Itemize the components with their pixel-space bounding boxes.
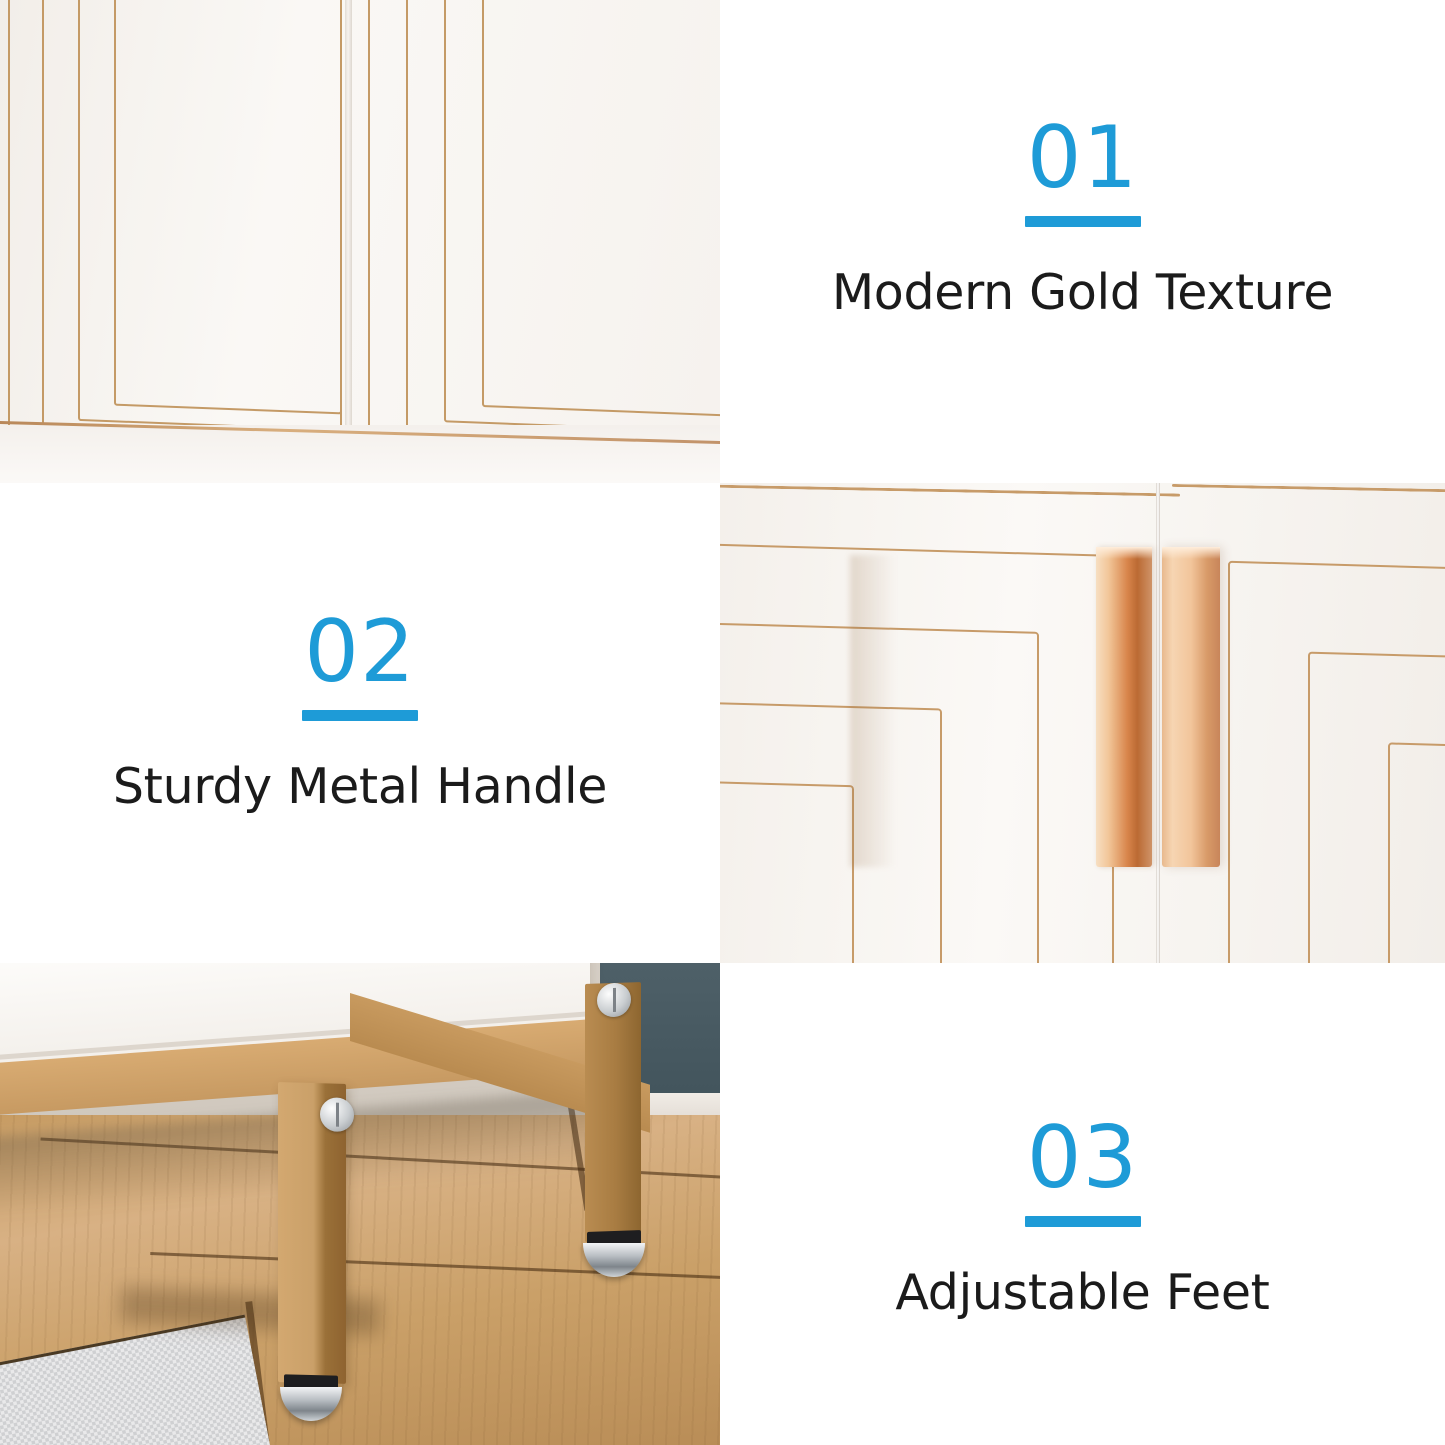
image-panel-gold-texture bbox=[0, 0, 720, 483]
feature-number-2: 02 bbox=[304, 612, 415, 694]
feature-caption-3: 03 Adjustable Feet bbox=[720, 1118, 1445, 1318]
handle-bar-right[interactable] bbox=[1162, 547, 1220, 867]
image-panel-metal-handle bbox=[720, 483, 1445, 963]
cabinet-leg-back bbox=[585, 982, 641, 1242]
caption-panel-3: 03 Adjustable Feet bbox=[720, 963, 1445, 1445]
feature-caption-1: 01 Modern Gold Texture bbox=[720, 118, 1445, 318]
door-right-inlay-group bbox=[352, 0, 720, 480]
feature-underline-2 bbox=[302, 710, 418, 721]
feature-caption-2: 02 Sturdy Metal Handle bbox=[0, 612, 720, 812]
feature-underline-1 bbox=[1025, 216, 1141, 227]
handle-drop-shadow bbox=[850, 555, 896, 867]
door-left-inlay-group bbox=[0, 0, 350, 480]
feature-number-1: 01 bbox=[1027, 118, 1138, 200]
caption-panel-2: 02 Sturdy Metal Handle bbox=[0, 483, 720, 963]
feature-number-3: 03 bbox=[1027, 1118, 1138, 1200]
caption-panel-1: 01 Modern Gold Texture bbox=[720, 0, 1445, 483]
leg-screw-front bbox=[320, 1097, 354, 1132]
image-panel-adjustable-feet bbox=[0, 963, 720, 1445]
leg-screw-back bbox=[597, 982, 631, 1017]
metal-handle[interactable] bbox=[1090, 547, 1230, 867]
door-bottom-band bbox=[0, 425, 720, 483]
inlay-right-3 bbox=[1388, 742, 1445, 963]
inlay-left-4 bbox=[720, 781, 854, 963]
feature-title-3: Adjustable Feet bbox=[895, 1267, 1269, 1318]
feature-underline-3 bbox=[1025, 1216, 1141, 1227]
door-seam bbox=[345, 0, 352, 483]
feature-infographic: 01 Modern Gold Texture 02 Sturdy Metal H… bbox=[0, 0, 1445, 1445]
feature-title-1: Modern Gold Texture bbox=[832, 267, 1333, 318]
cabinet-leg-front bbox=[278, 1082, 346, 1384]
handle-bar-left[interactable] bbox=[1096, 547, 1152, 867]
feature-title-2: Sturdy Metal Handle bbox=[113, 761, 607, 812]
